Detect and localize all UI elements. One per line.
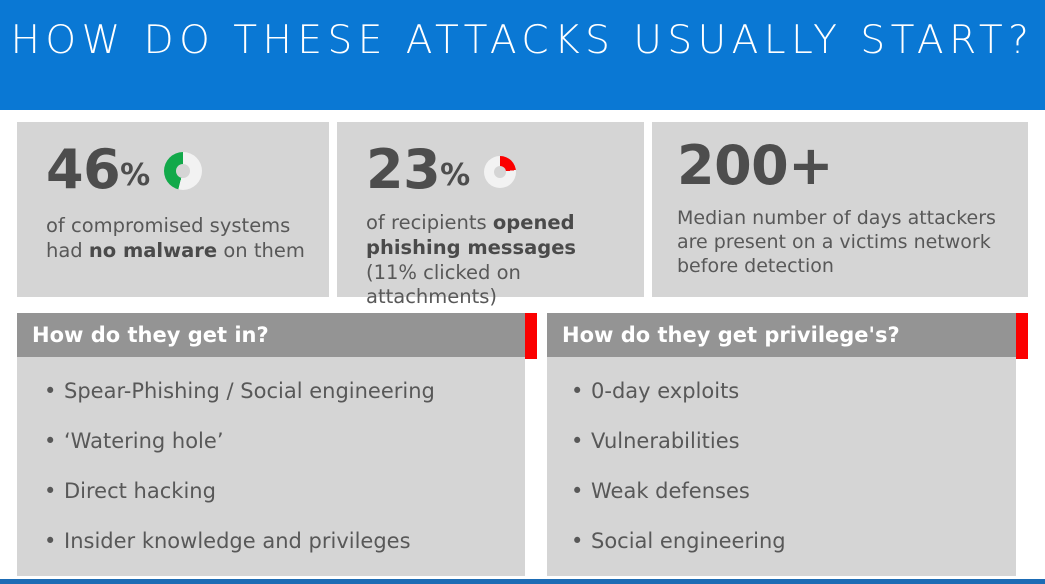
description-run: no malware	[89, 239, 217, 262]
donut-chart-red	[484, 156, 516, 188]
bullet-dot-icon: •	[571, 416, 591, 466]
stat-value-row-3: 200+	[677, 140, 833, 191]
list-item: •Insider knowledge and privileges	[17, 516, 525, 566]
list-item: •0-day exploits	[547, 366, 1016, 416]
stat-number-1: 46	[46, 144, 120, 195]
list-item: •Spear-Phishing / Social engineering	[17, 366, 525, 416]
panel-title-left: How do they get in?	[32, 323, 269, 347]
description-run: on them	[217, 239, 305, 262]
list-item-label: Direct hacking	[64, 466, 216, 516]
panel-how-do-they-get-in: How do they get in? •Spear-Phishing / So…	[17, 313, 537, 576]
stat-number-2: 23	[366, 144, 440, 195]
donut-chart-green	[164, 152, 202, 190]
list-item-label: Vulnerabilities	[591, 416, 740, 466]
bullet-list-left: •Spear-Phishing / Social engineering•‘Wa…	[17, 357, 525, 576]
list-item: •Social engineering	[547, 516, 1016, 566]
stat-number-3: 200+	[677, 140, 833, 191]
description-run: Median number of days attackers	[677, 207, 996, 229]
accent-bar-right	[1016, 313, 1028, 359]
bullet-dot-icon: •	[44, 416, 64, 466]
stat-unit-1: %	[120, 161, 150, 195]
list-item-label: Social engineering	[591, 516, 786, 566]
description-run: had	[46, 239, 89, 262]
stat-value-row-2: 23 %	[366, 144, 516, 195]
panel-header-left: How do they get in?	[17, 313, 537, 357]
stat-card-1: 46 % of compromised systemshad no malwar…	[17, 122, 329, 297]
description-run: phishing messages	[366, 236, 576, 259]
stat-card-2: 23 % of recipients openedphishing messag…	[337, 122, 644, 297]
panel-header-right: How do they get privilege's?	[547, 313, 1028, 357]
bullet-dot-icon: •	[44, 516, 64, 566]
stat-description-3: Median number of days attackersare prese…	[677, 206, 996, 278]
title-banner: HOW DO THESE ATTACKS USUALLY START?	[0, 0, 1045, 110]
list-item: •‘Watering hole’	[17, 416, 525, 466]
description-run: of recipients	[366, 211, 493, 234]
stat-card-3: 200+ Median number of days attackersare …	[652, 122, 1028, 297]
stat-description-2: of recipients openedphishing messages(11…	[366, 211, 644, 310]
panel-how-do-they-get-privileges: How do they get privilege's? •0-day expl…	[547, 313, 1028, 576]
list-item: •Direct hacking	[17, 466, 525, 516]
list-item: •Vulnerabilities	[547, 416, 1016, 466]
accent-bar-left	[525, 313, 537, 359]
stat-value-row-1: 46 %	[46, 144, 202, 195]
description-run: are present on a victims network	[677, 231, 991, 253]
description-run: opened	[493, 211, 575, 234]
bullet-dot-icon: •	[44, 466, 64, 516]
list-item-label: Insider knowledge and privileges	[64, 516, 411, 566]
footer-bar	[0, 579, 1045, 584]
list-item: •Weak defenses	[547, 466, 1016, 516]
slide-title: HOW DO THESE ATTACKS USUALLY START?	[0, 17, 1045, 66]
description-run: of compromised systems	[46, 214, 290, 237]
bullet-dot-icon: •	[571, 516, 591, 566]
stat-description-1: of compromised systemshad no malware on …	[46, 214, 305, 264]
list-item-label: Spear-Phishing / Social engineering	[64, 366, 435, 416]
list-item-label: Weak defenses	[591, 466, 750, 516]
list-item-label: 0-day exploits	[591, 366, 739, 416]
description-run: before detection	[677, 255, 834, 277]
bullet-dot-icon: •	[571, 366, 591, 416]
bullet-dot-icon: •	[44, 366, 64, 416]
bullet-list-right: •0-day exploits•Vulnerabilities•Weak def…	[547, 357, 1016, 576]
bullet-dot-icon: •	[571, 466, 591, 516]
panel-title-right: How do they get privilege's?	[562, 323, 900, 347]
description-run: (11% clicked on attachments)	[366, 261, 521, 309]
list-item-label: ‘Watering hole’	[64, 416, 224, 466]
stat-unit-2: %	[440, 161, 470, 195]
